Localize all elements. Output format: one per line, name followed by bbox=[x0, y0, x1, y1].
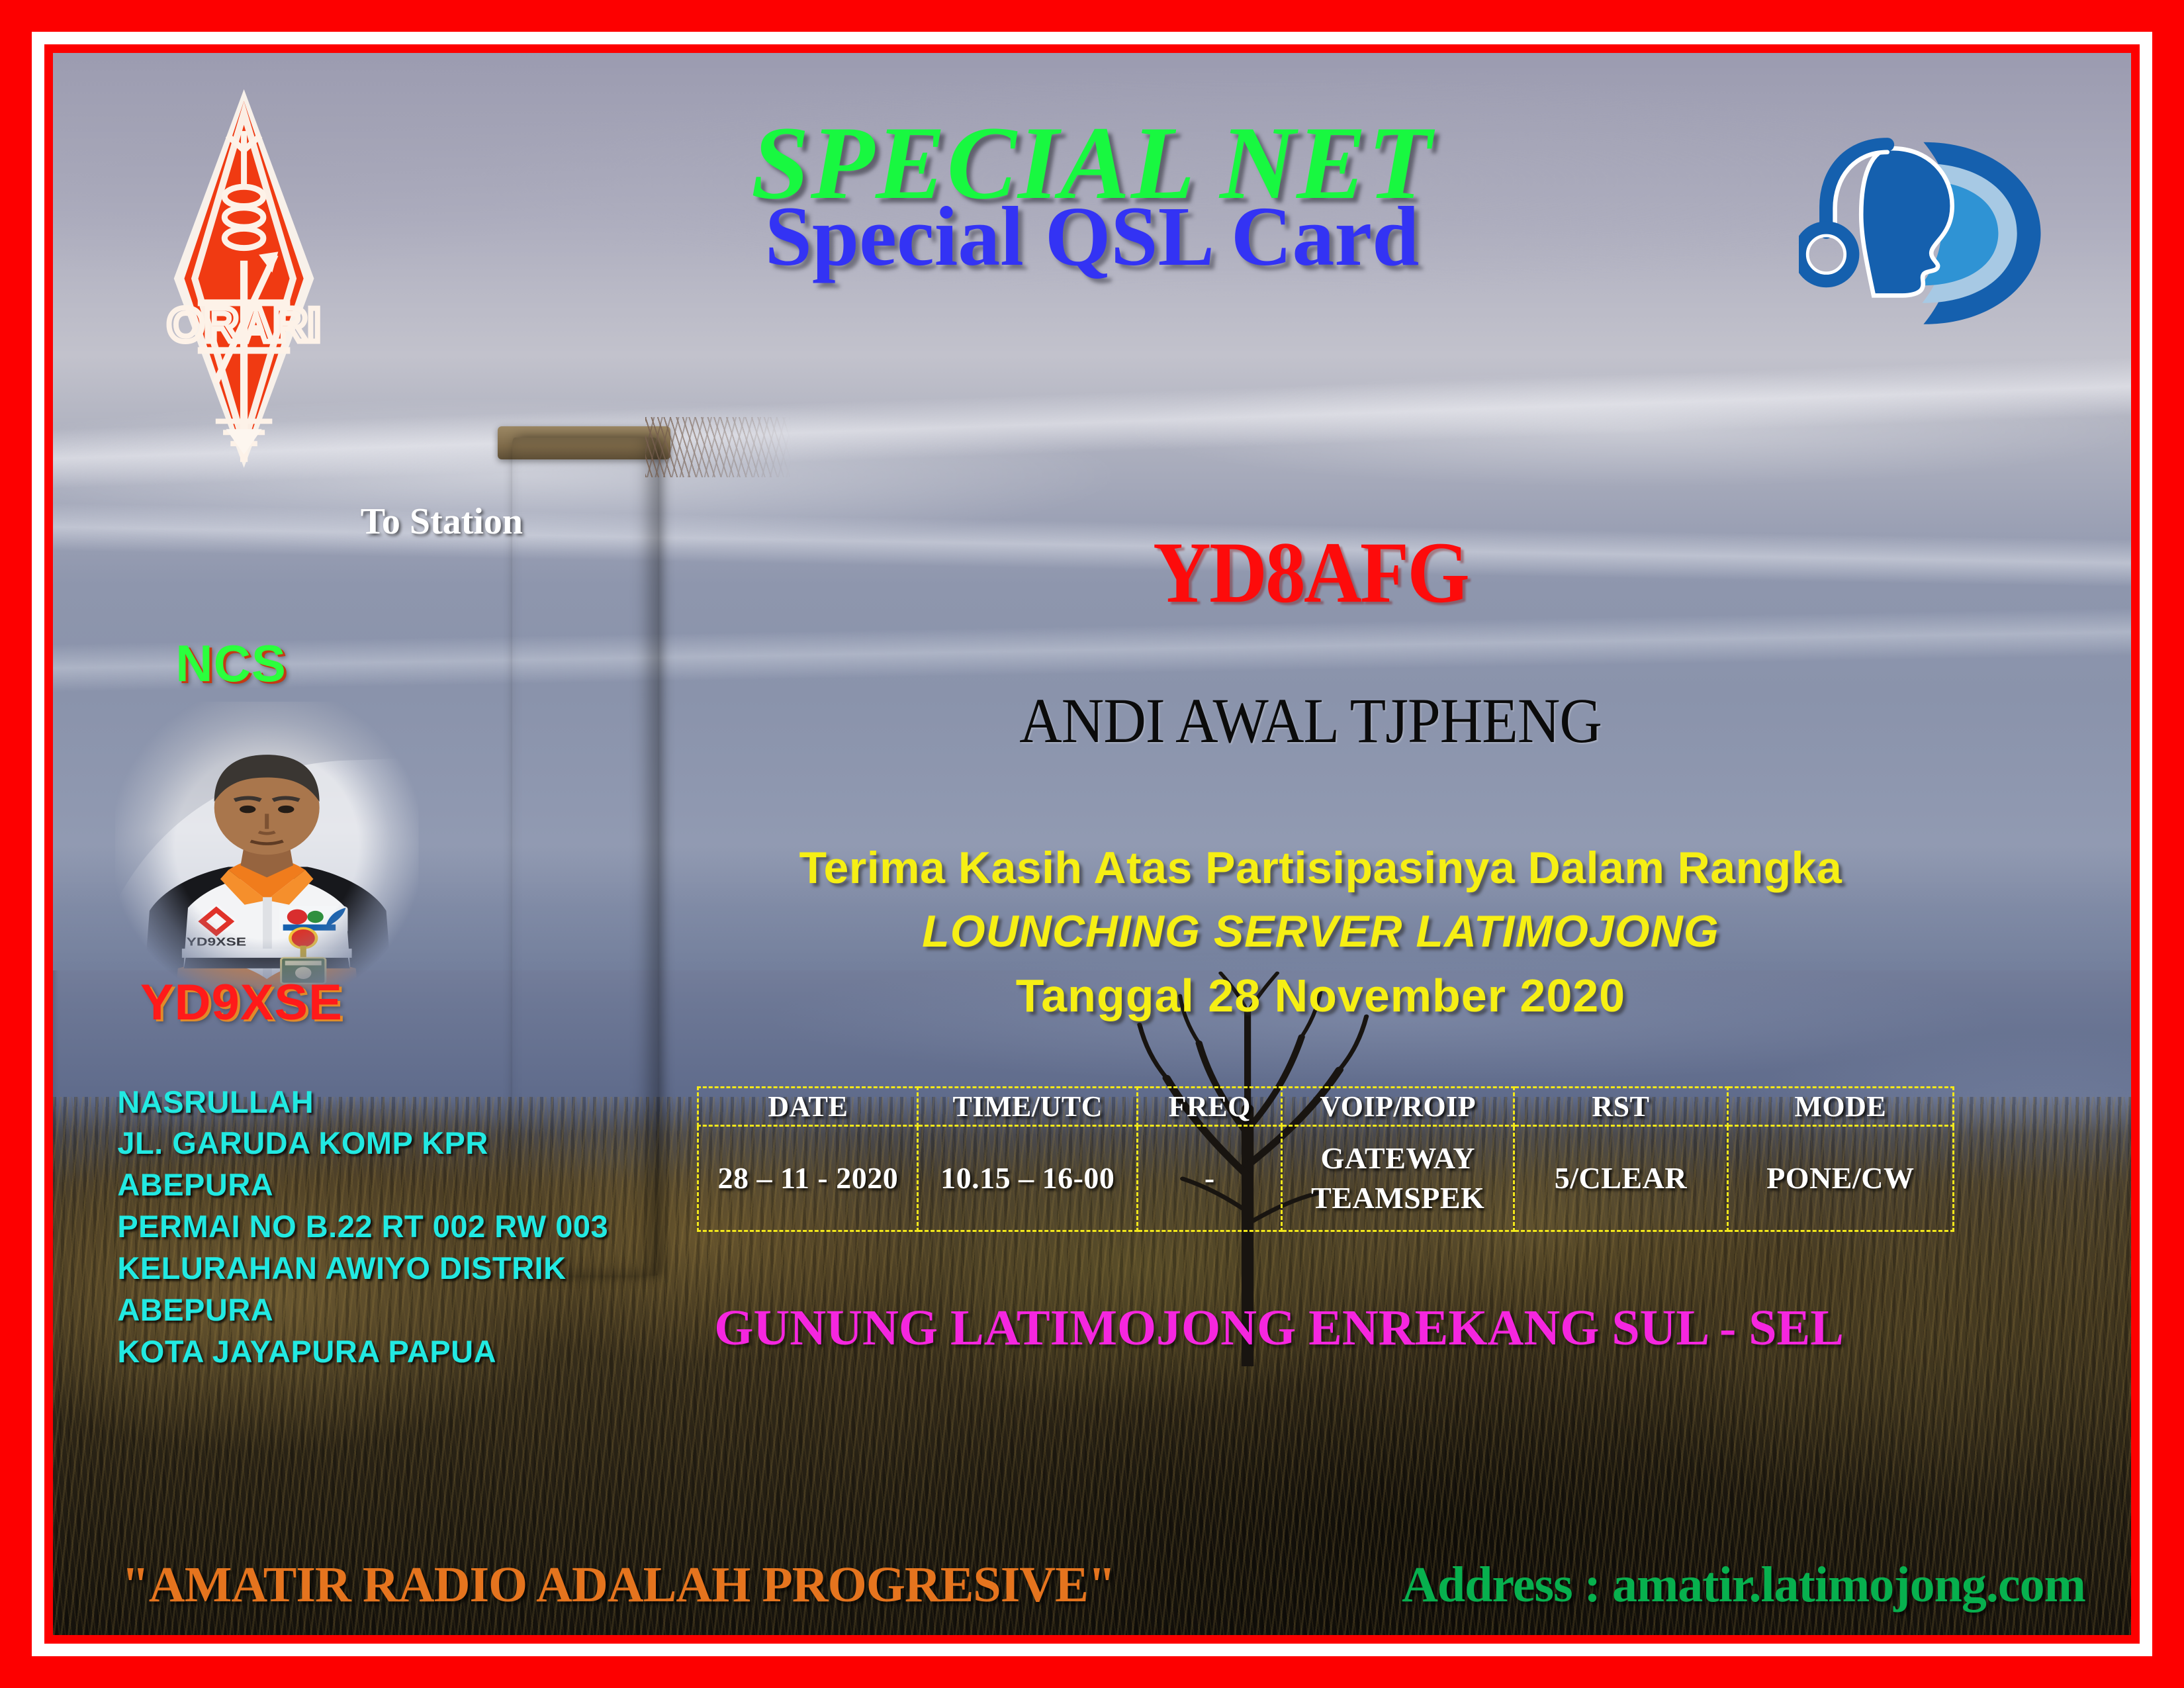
cell-voip-roip-line1: GATEWAY bbox=[1320, 1141, 1475, 1175]
column-header-time-utc: TIME/UTC bbox=[918, 1087, 1138, 1125]
cell-mode: PONE/CW bbox=[1727, 1125, 1953, 1231]
column-header-freq: FREQ bbox=[1138, 1087, 1282, 1125]
event-date-line: Tanggal 28 November 2020 bbox=[676, 972, 1965, 1019]
column-header-date: DATE bbox=[698, 1087, 918, 1125]
station-callsign: YD8AFG bbox=[803, 529, 1817, 616]
event-location-line: GUNUNG LATIMOJONG ENREKANG SUL - SEL bbox=[635, 1303, 1923, 1353]
thanks-line-1: Terima Kasih Atas Partisipasinya Dalam R… bbox=[676, 845, 1965, 890]
operator-portrait-avatar: YD9XSE bbox=[115, 702, 418, 990]
ncs-role-label: NCS bbox=[175, 633, 287, 694]
station-operator-name: ANDI AWAL TJPHENG bbox=[798, 689, 1823, 753]
cairn-grass-tuft-icon bbox=[645, 417, 791, 477]
cell-freq: - bbox=[1138, 1125, 1282, 1231]
address-line: ABEPURA bbox=[117, 1164, 608, 1206]
qso-log-table: DATE TIME/UTC FREQ VOIP/ROIP RST MODE 28… bbox=[697, 1086, 1954, 1232]
address-line: ABEPURA bbox=[117, 1289, 608, 1331]
footer-motto: "AMATIR RADIO ADALAH PROGRESIVE" bbox=[122, 1560, 1115, 1610]
to-station-label: To Station bbox=[361, 500, 523, 543]
address-line: JL. GARUDA KOMP KPR bbox=[117, 1123, 608, 1164]
table-row: 28 – 11 - 2020 10.15 – 16-00 - GATEWAY T… bbox=[698, 1125, 1954, 1231]
address-line: PERMAI NO B.22 RT 002 RW 003 bbox=[117, 1206, 608, 1248]
event-name-line: LOUNCHING SERVER LATIMOJONG bbox=[676, 909, 1965, 954]
orari-logo-label: ORARI bbox=[167, 299, 321, 352]
uniform-callsign-text: YD9XSE bbox=[187, 936, 246, 949]
cell-time-utc: 10.15 – 16-00 bbox=[918, 1125, 1138, 1231]
qsl-address-block: NASRULLAH JL. GARUDA KOMP KPR ABEPURA PE… bbox=[117, 1082, 608, 1374]
address-line: NASRULLAH bbox=[117, 1082, 608, 1123]
ncs-callsign-label: YD9XSE bbox=[140, 974, 343, 1031]
address-line: KOTA JAYAPURA PAPUA bbox=[117, 1331, 608, 1373]
column-header-rst: RST bbox=[1514, 1087, 1727, 1125]
qsl-card-canvas: ORARI bbox=[53, 53, 2131, 1635]
cell-date: 28 – 11 - 2020 bbox=[698, 1125, 918, 1231]
cell-rst: 5/CLEAR bbox=[1514, 1125, 1727, 1231]
table-header-row: DATE TIME/UTC FREQ VOIP/ROIP RST MODE bbox=[698, 1087, 1954, 1125]
card-inner-red-border: ORARI bbox=[44, 44, 2140, 1644]
address-line: KELURAHAN AWIYO DISTRIK bbox=[117, 1248, 608, 1289]
card-white-border: ORARI bbox=[32, 32, 2152, 1656]
column-header-mode: MODE bbox=[1727, 1087, 1953, 1125]
card-outer-red-border: ORARI bbox=[0, 0, 2184, 1688]
cell-voip-roip-line2: TEAMSPEK bbox=[1311, 1181, 1484, 1215]
page-subtitle-qsl-card: Special QSL Card bbox=[53, 194, 2131, 279]
cell-voip-roip: GATEWAY TEAMSPEK bbox=[1282, 1125, 1514, 1231]
footer-web-address: Address : amatir.latimojong.com bbox=[1402, 1560, 2085, 1610]
column-header-voip-roip: VOIP/ROIP bbox=[1282, 1087, 1514, 1125]
